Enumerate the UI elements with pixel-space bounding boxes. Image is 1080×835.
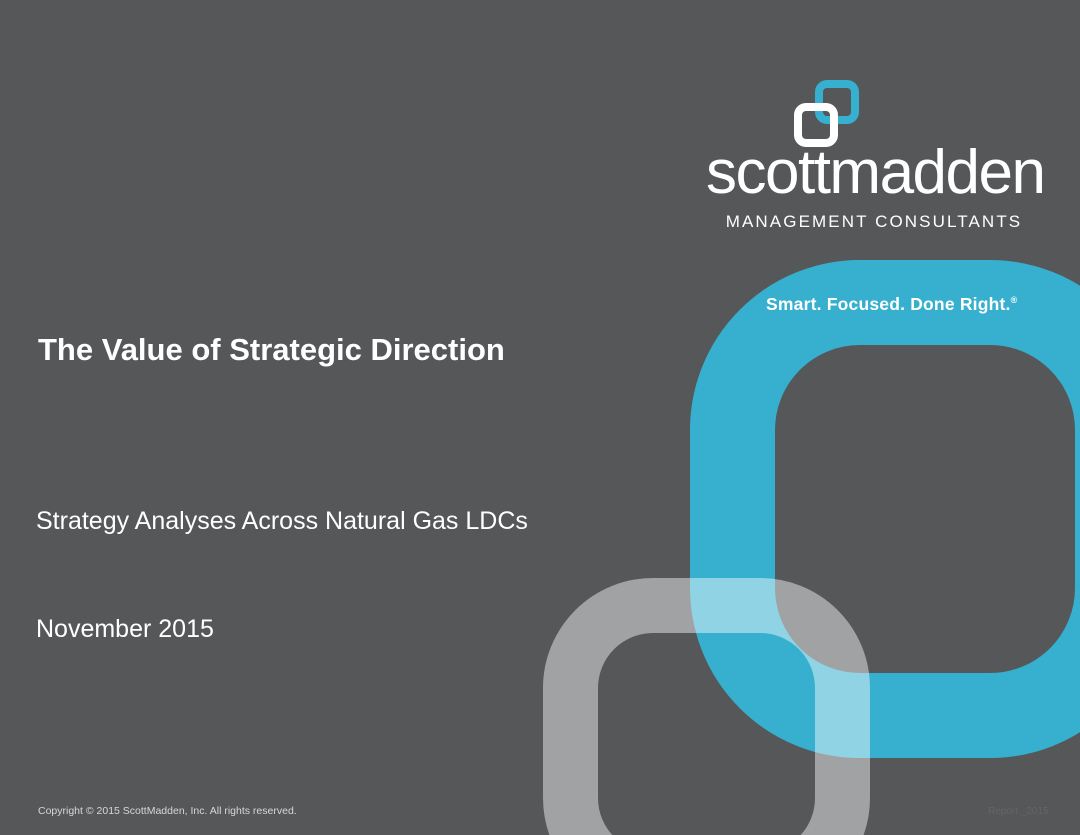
gray-rounded-square-shape: [543, 578, 870, 835]
page-date: November 2015: [36, 615, 214, 644]
logo-subtitle: MANAGEMENT CONSULTANTS: [706, 212, 1042, 232]
brand-logo: scottmadden MANAGEMENT CONSULTANTS: [706, 80, 1042, 232]
title-slide: Smart. Focused. Done Right.® scottmadden…: [0, 0, 1080, 835]
page-title: The Value of Strategic Direction: [38, 332, 505, 368]
copyright-notice: Copyright © 2015 ScottMadden, Inc. All r…: [38, 805, 297, 817]
registered-trademark-icon: ®: [1011, 295, 1018, 305]
teal-rounded-square-shape: [690, 260, 1080, 758]
document-id: Report _2015: [988, 806, 1049, 817]
logo-wordmark: scottmadden: [706, 142, 1042, 204]
page-subtitle: Strategy Analyses Across Natural Gas LDC…: [36, 507, 528, 536]
brand-tagline-text: Smart. Focused. Done Right.: [766, 294, 1011, 314]
brand-tagline: Smart. Focused. Done Right.®: [766, 294, 1017, 315]
